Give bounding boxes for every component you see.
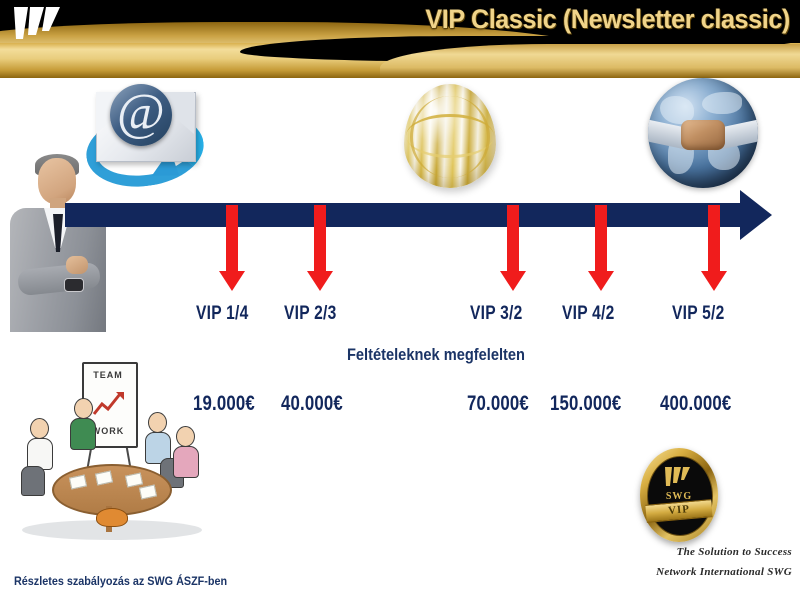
at-symbol-icon: @ bbox=[110, 84, 172, 146]
sleeping-cat bbox=[96, 508, 128, 527]
team-meeting-illustration: TEAM WORK bbox=[8, 358, 218, 543]
vip-tier-price: 40.000€ bbox=[281, 392, 343, 416]
vip-tier-price: 150.000€ bbox=[550, 392, 621, 416]
condition-text: Feltételeknek megfelelten bbox=[347, 345, 525, 365]
vip-tier-price: 400.000€ bbox=[660, 392, 731, 416]
globe-sphere bbox=[648, 78, 758, 188]
person-torso bbox=[173, 446, 199, 478]
footer-note: Részletes szabályozás az SWG ÁSZF-ben bbox=[14, 574, 227, 588]
egg-band-vertical bbox=[410, 96, 490, 178]
person-head bbox=[148, 412, 167, 433]
timeline-marker-arrow bbox=[507, 205, 519, 271]
golden-decorated-egg-icon bbox=[404, 84, 496, 188]
person-head bbox=[176, 426, 195, 447]
businessman-hand bbox=[66, 256, 88, 274]
header-gold-tip bbox=[380, 44, 800, 78]
timeline-arrow-bar bbox=[65, 203, 745, 227]
person-torso bbox=[70, 418, 96, 450]
globe-landmass bbox=[702, 92, 742, 114]
growth-arrow-icon bbox=[92, 390, 126, 418]
person-head bbox=[30, 418, 49, 439]
vip-tier-label: VIP 2/3 bbox=[284, 303, 337, 325]
vip-tier-label: VIP 1/4 bbox=[196, 303, 249, 325]
swg-w-logo-icon bbox=[12, 5, 68, 43]
timeline-marker-arrow bbox=[708, 205, 720, 271]
office-chair bbox=[21, 466, 45, 496]
slide-header: VIP Classic (Newsletter classic) bbox=[0, 0, 800, 78]
timeline-marker-arrow bbox=[226, 205, 238, 271]
tagline-line-1: The Solution to Success bbox=[677, 546, 792, 558]
timeline-marker-arrow bbox=[314, 205, 326, 271]
vip-tier-price: 70.000€ bbox=[467, 392, 529, 416]
vip-tier-label: VIP 3/2 bbox=[470, 303, 523, 325]
vip-tier-label: VIP 5/2 bbox=[672, 303, 725, 325]
page-title: VIP Classic (Newsletter classic) bbox=[425, 4, 790, 35]
businessman-watch bbox=[64, 278, 84, 292]
flipchart-text-team: TEAM bbox=[82, 370, 134, 380]
slide-canvas: VIP Classic (Newsletter classic) @ bbox=[0, 0, 800, 600]
handshake-grip bbox=[681, 120, 725, 150]
vip-tier-label: VIP 4/2 bbox=[562, 303, 615, 325]
swg-w-logo-icon bbox=[664, 466, 694, 488]
businessman-photo bbox=[6, 156, 110, 332]
timeline-arrow-head bbox=[740, 190, 772, 240]
tagline-line-2: Network International SWG bbox=[656, 566, 792, 578]
vip-seal-badge: SWG VIP bbox=[640, 448, 718, 542]
person-head bbox=[74, 398, 93, 419]
timeline-marker-arrow bbox=[595, 205, 607, 271]
globe-handshake-icon bbox=[648, 78, 758, 188]
